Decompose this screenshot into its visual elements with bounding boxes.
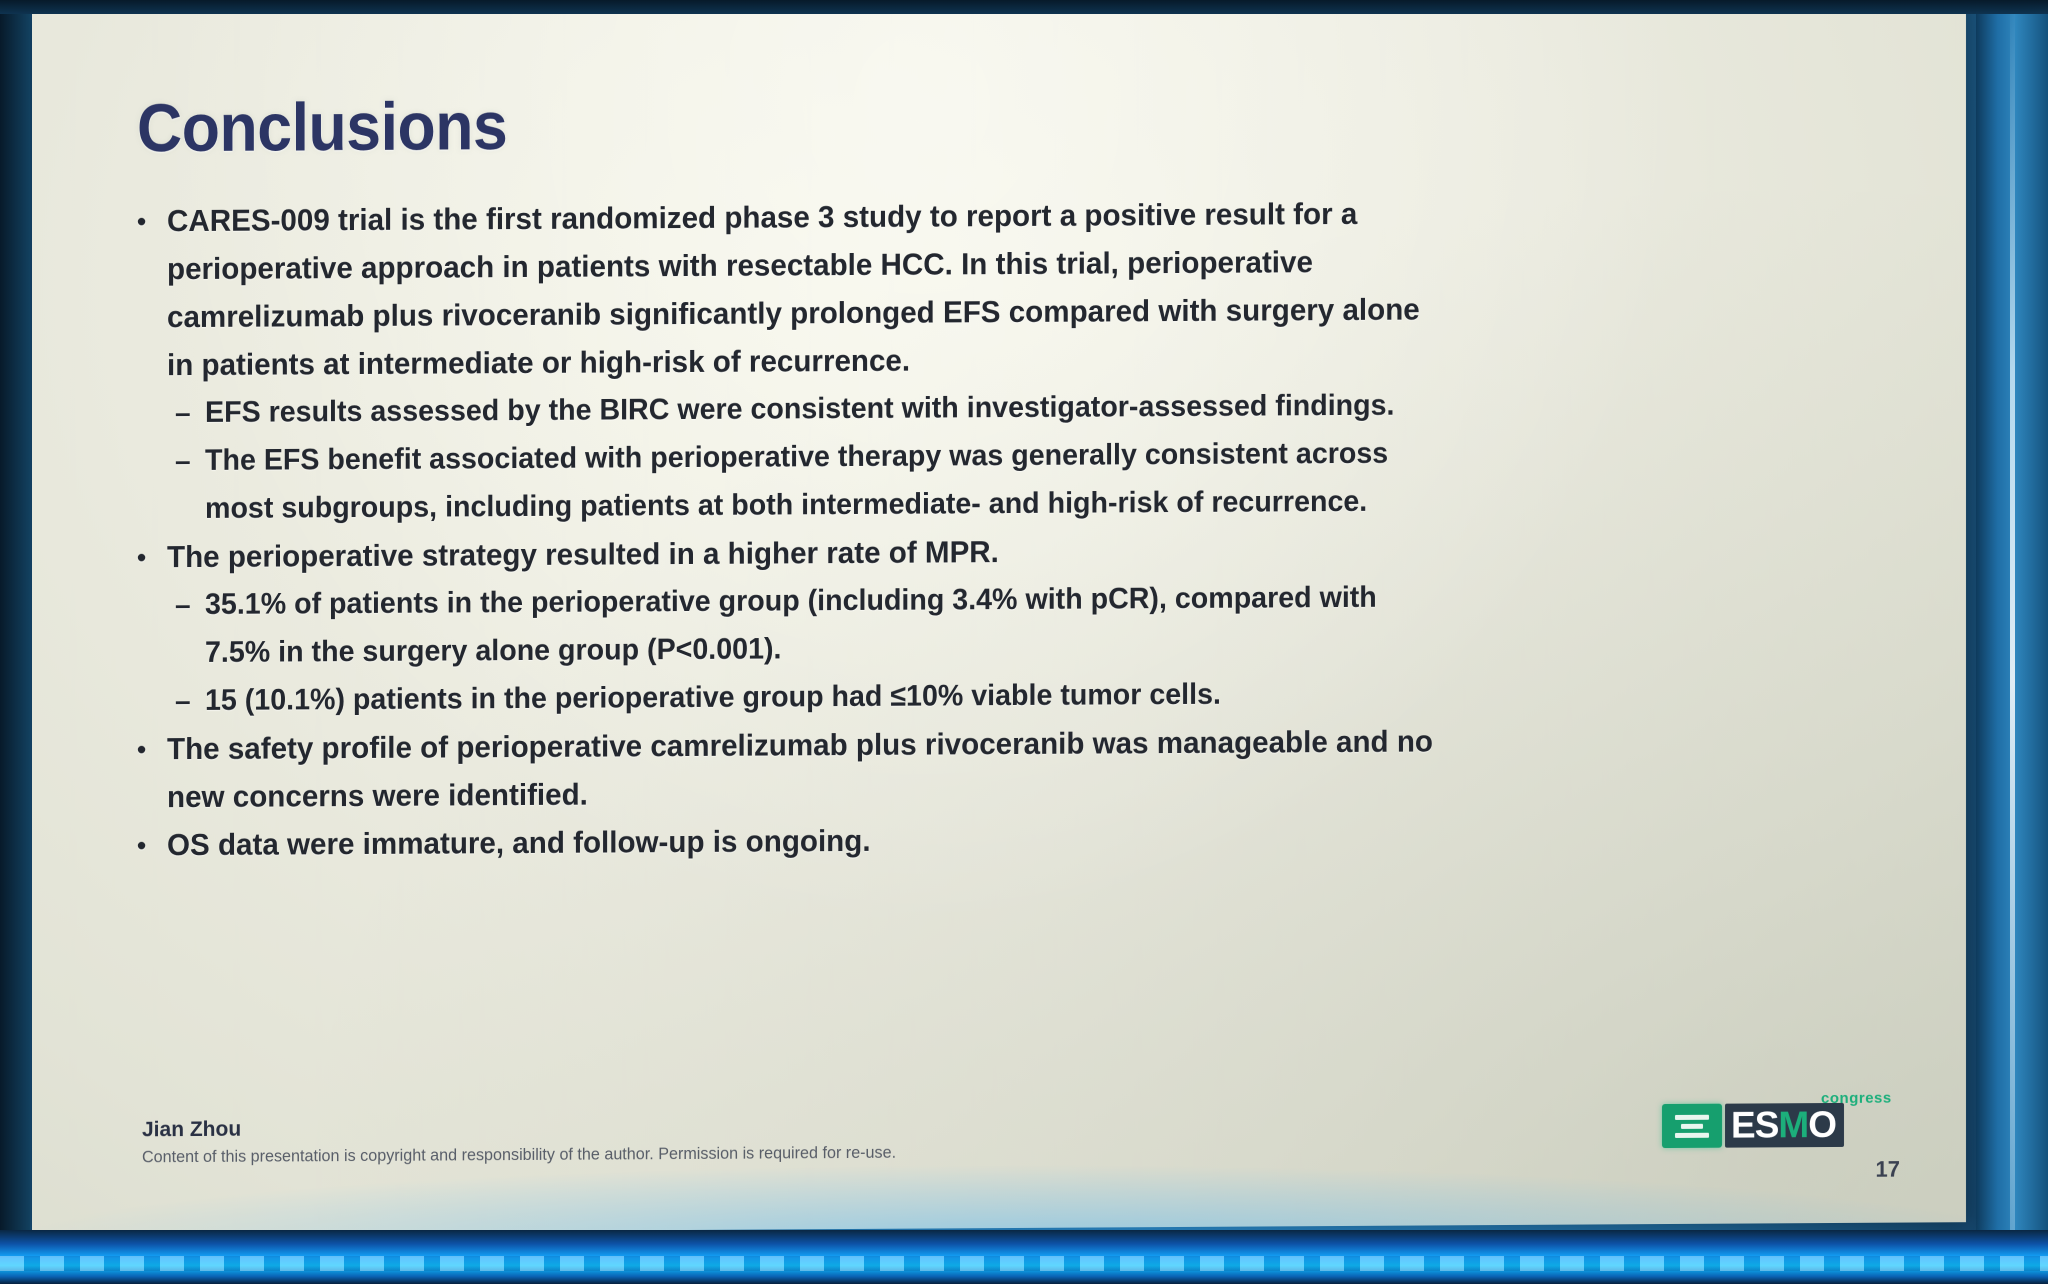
- screen-right-frame: [1976, 0, 2048, 1240]
- logo-bar: [1675, 1114, 1709, 1119]
- wordmark-letter-m: M: [1778, 1104, 1808, 1146]
- bullet-marker-dot: •: [137, 197, 167, 245]
- bullet-text: CARES-009 trial is the first randomized …: [167, 189, 1443, 389]
- slide-title: Conclusions: [137, 87, 507, 167]
- wordmark-letter-s: S: [1755, 1104, 1779, 1146]
- logo-congress-label: congress: [1821, 1090, 1892, 1107]
- bullet-text: 35.1% of patients in the perioperative g…: [205, 573, 1444, 677]
- stage-led-strip: [0, 1230, 2048, 1284]
- wordmark-letter-e: E: [1731, 1104, 1755, 1146]
- logo-bar: [1681, 1123, 1703, 1128]
- bullet-item: • CARES-009 trial is the first randomize…: [137, 189, 1482, 389]
- projected-slide-photo: Conclusions • CARES-009 trial is the fir…: [0, 0, 2048, 1284]
- esmo-congress-logo: ESMO congress: [1662, 1099, 1844, 1152]
- slide-page-number: 17: [1876, 1157, 1900, 1183]
- bullet-marker-dash: –: [175, 581, 205, 629]
- bullet-marker-dash: –: [175, 437, 205, 485]
- copyright-notice: Content of this presentation is copyrigh…: [142, 1140, 1377, 1168]
- bullet-text: The perioperative strategy resulted in a…: [167, 525, 1443, 581]
- esmo-mark-icon: [1662, 1104, 1722, 1148]
- slide-footer: Jian Zhou Content of this presentation i…: [142, 1110, 1442, 1167]
- bullet-item: – EFS results assessed by the BIRC were …: [137, 381, 1482, 437]
- esmo-wordmark: ESMO congress: [1725, 1103, 1844, 1148]
- bullet-marker-dot: •: [137, 533, 167, 581]
- bullet-marker-dash: –: [175, 677, 205, 725]
- bullet-item: • The safety profile of perioperative ca…: [137, 717, 1482, 821]
- screen-left-shadow: [0, 0, 30, 1284]
- bullet-text: The EFS benefit associated with perioper…: [205, 429, 1444, 533]
- bullet-text: OS data were immature, and follow-up is …: [167, 813, 1443, 869]
- bullet-item: • OS data were immature, and follow-up i…: [137, 813, 1482, 869]
- bullet-text: EFS results assessed by the BIRC were co…: [205, 381, 1444, 437]
- logo-bar: [1675, 1132, 1709, 1137]
- bullet-marker-dot: •: [137, 725, 167, 773]
- bullet-item: – The EFS benefit associated with periop…: [137, 429, 1482, 533]
- bullet-marker-dash: –: [175, 389, 205, 437]
- bullet-item: – 15 (10.1%) patients in the perioperati…: [137, 669, 1482, 725]
- presentation-slide: Conclusions • CARES-009 trial is the fir…: [32, 0, 1966, 1234]
- wordmark-letter-o: O: [1808, 1104, 1836, 1146]
- bullet-item: – 35.1% of patients in the perioperative…: [137, 573, 1482, 677]
- bullet-item: • The perioperative strategy resulted in…: [137, 525, 1482, 581]
- bullet-text: The safety profile of perioperative camr…: [167, 717, 1443, 821]
- conclusions-bullet-list: • CARES-009 trial is the first randomize…: [137, 189, 1482, 869]
- bullet-text: 15 (10.1%) patients in the perioperative…: [205, 669, 1444, 725]
- bullet-marker-dot: •: [137, 821, 167, 869]
- screen-top-shadow: [0, 0, 2048, 14]
- author-name: Jian Zhou: [142, 1110, 1442, 1142]
